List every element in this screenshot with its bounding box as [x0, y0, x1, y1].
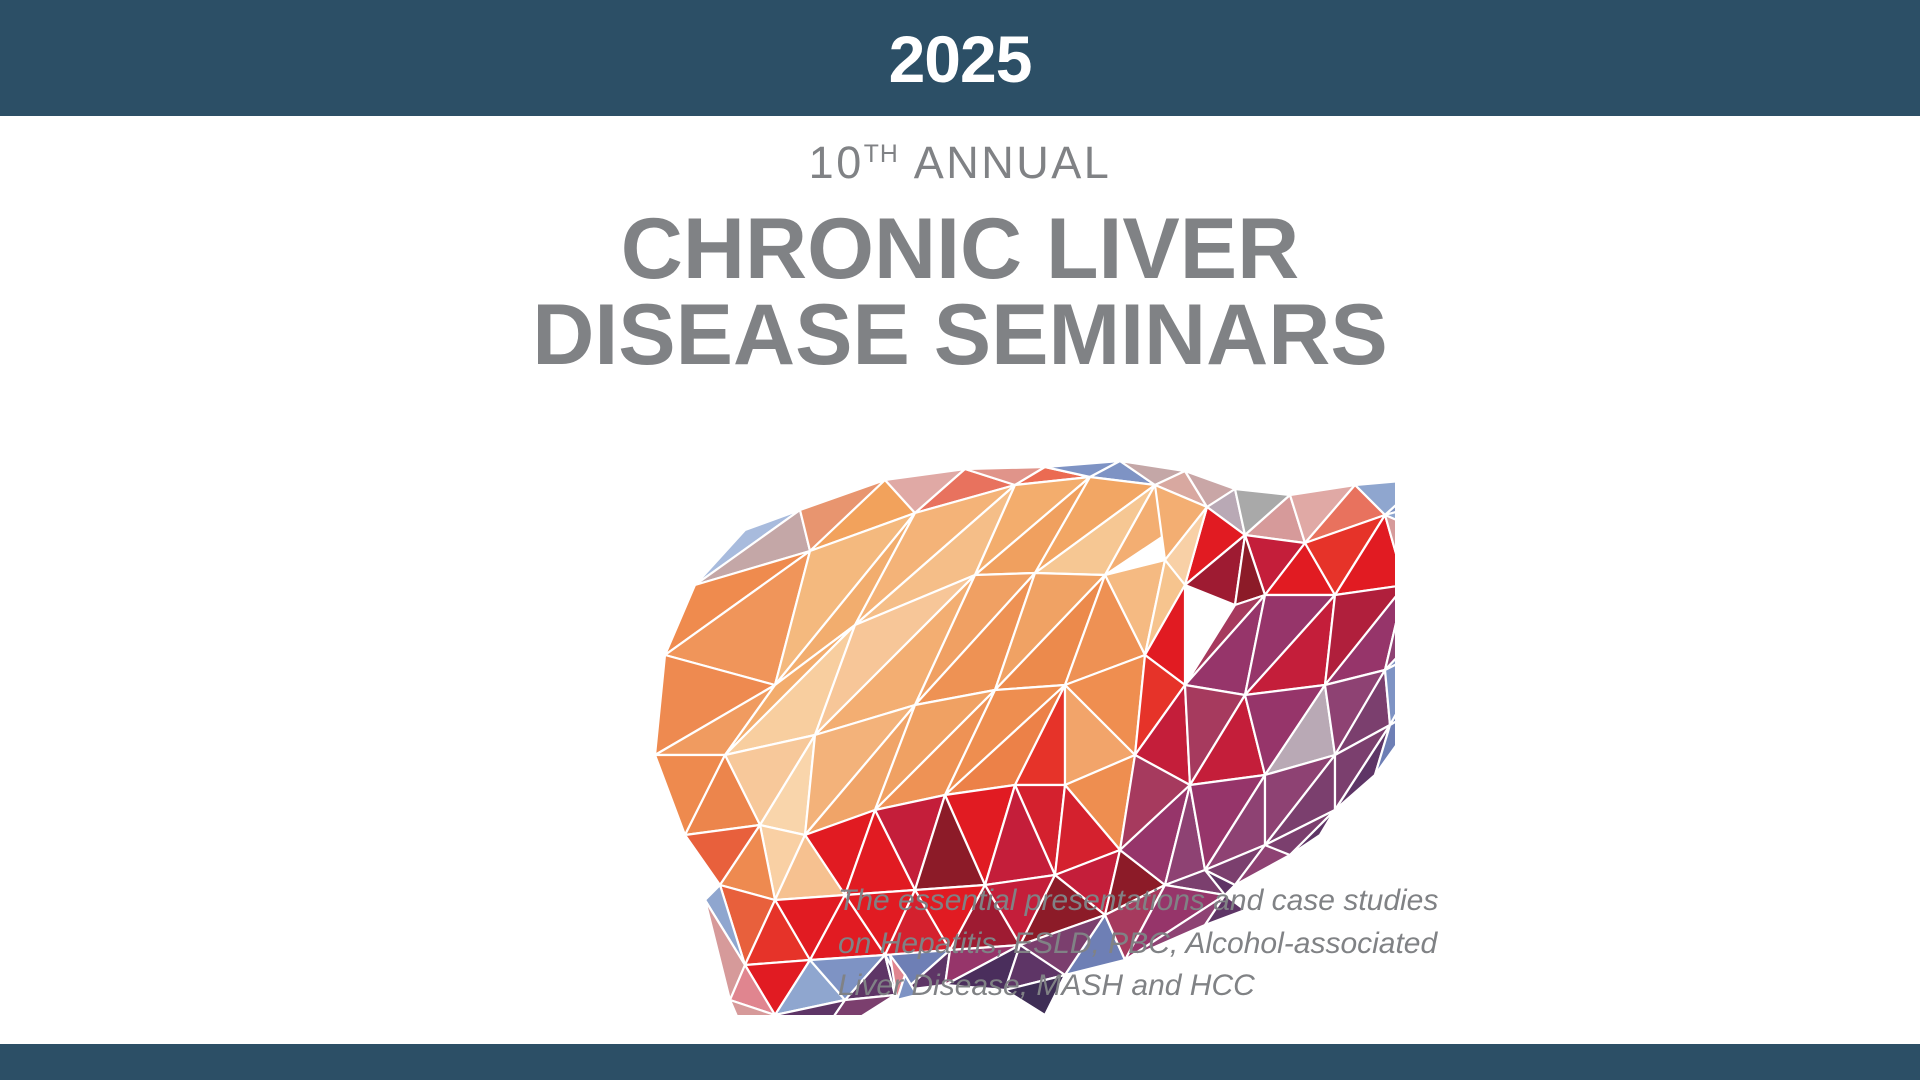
- eyebrow-number: 10: [809, 137, 864, 188]
- page-title-line-1: CHRONIC LIVER: [0, 207, 1920, 291]
- subtitle-line-1: The essential presentations and case stu…: [838, 880, 1538, 923]
- page-title-line-2: DISEASE SEMINARS: [0, 293, 1920, 377]
- subtitle-line-3: Liver Disease, MASH and HCC: [838, 965, 1538, 1008]
- eyebrow-word: ANNUAL: [914, 137, 1112, 188]
- eyebrow-ordinal: TH: [864, 141, 899, 168]
- subtitle-line-2: on Hepatitis, ESLD, PBC, Alcohol-associa…: [838, 923, 1538, 966]
- year-label: 2025: [889, 26, 1032, 92]
- heading-block: 10TH ANNUAL CHRONIC LIVER DISEASE SEMINA…: [0, 140, 1920, 378]
- top-banner: 2025: [0, 0, 1920, 116]
- subtitle-block: The essential presentations and case stu…: [838, 880, 1538, 1008]
- poster-canvas: 2025 10TH ANNUAL CHRONIC LIVER DISEASE S…: [0, 0, 1920, 1080]
- eyebrow-line: 10TH ANNUAL: [0, 140, 1920, 185]
- bottom-banner: [0, 1044, 1920, 1080]
